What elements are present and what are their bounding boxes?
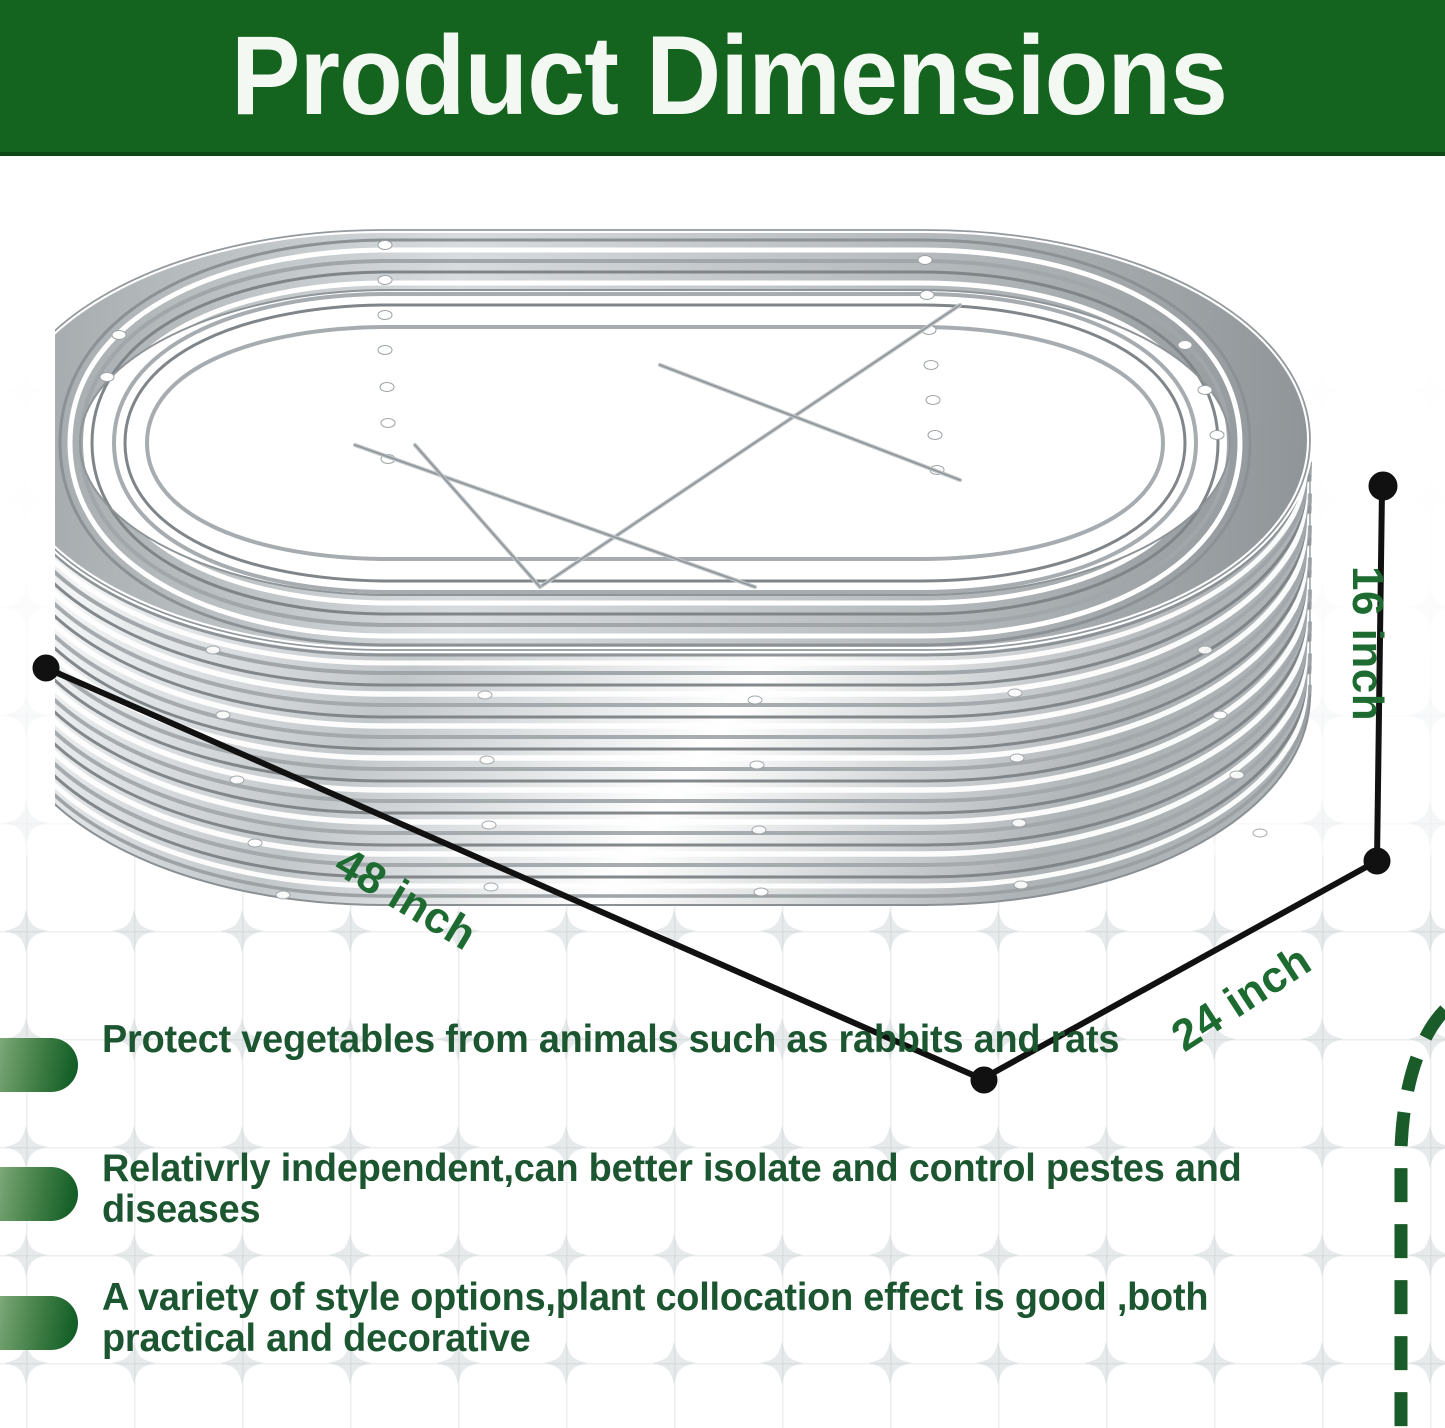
page-title: Product Dimensions (51, 20, 1395, 132)
feature-list: Protect vegetables from animals such as … (0, 1020, 1445, 1407)
bed-inner-wall (55, 230, 1310, 650)
feature-text: Relativrly independent,can better isolat… (102, 1149, 1295, 1230)
dimension-label-height: 16 inch (1342, 566, 1392, 721)
bullet-pill-icon (0, 1038, 78, 1092)
list-item: A variety of style options,plant colloca… (0, 1278, 1445, 1360)
feature-text: Protect vegetables from animals such as … (102, 1020, 1295, 1061)
feature-text: A variety of style options,plant colloca… (102, 1278, 1295, 1359)
bullet-pill-icon (0, 1167, 78, 1221)
product-dimensions-infographic: Product Dimensions (0, 0, 1445, 1428)
bullet-pill-icon (0, 1296, 78, 1350)
list-item: Relativrly independent,can better isolat… (0, 1149, 1445, 1231)
header-banner: Product Dimensions (0, 0, 1445, 156)
product-illustration (55, 195, 1375, 1015)
list-item: Protect vegetables from animals such as … (0, 1020, 1445, 1102)
